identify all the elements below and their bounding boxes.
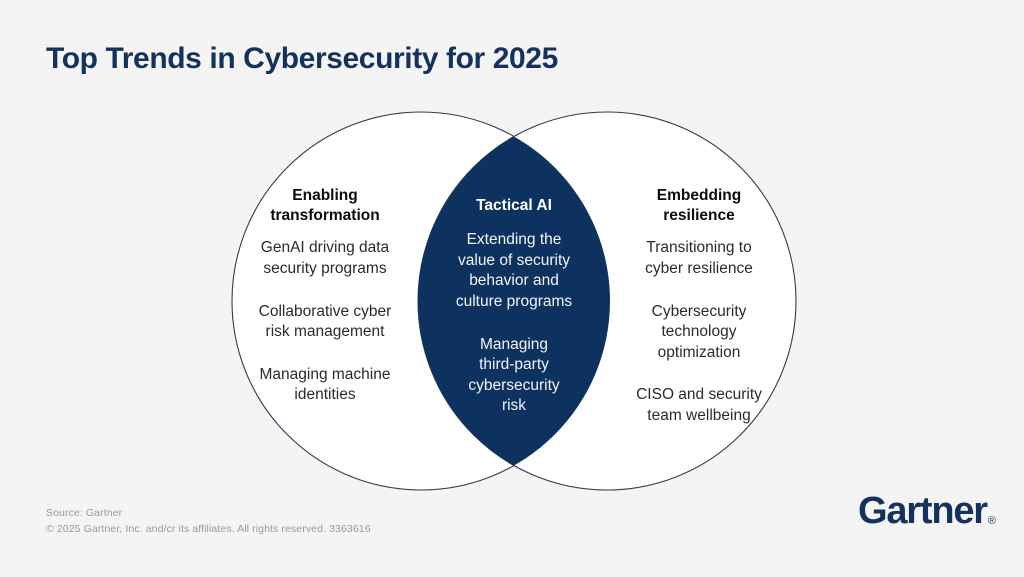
venn-right-item-1: Transitioning to cyber resilience — [618, 238, 780, 279]
venn-left-item-3: Managing machine identities — [244, 365, 406, 406]
gartner-logo: Gartner ® — [858, 492, 996, 530]
venn-group-embedding-resilience: Embedding resilience Transitioning to cy… — [618, 186, 780, 427]
venn-center-item-1: Extending the value of security behavior… — [430, 230, 598, 312]
venn-right-item-2: Cybersecurity technology optimization — [618, 302, 780, 364]
venn-right-item-3: CISO and security team wellbeing — [618, 385, 780, 426]
source-line: Source: Gartner — [46, 505, 371, 521]
venn-left-item-1: GenAI driving data security programs — [244, 238, 406, 279]
venn-center-heading: Tactical AI — [430, 196, 598, 216]
source-note: Source: Gartner © 2025 Gartner, Inc. and… — [46, 505, 371, 538]
venn-group-tactical-ai: Tactical AI Extending the value of secur… — [430, 196, 598, 439]
venn-left-item-2: Collaborative cyber risk management — [244, 302, 406, 343]
registered-trademark-icon: ® — [988, 516, 996, 527]
venn-center-item-2: Managing third-party cybersecurity risk — [430, 335, 598, 417]
venn-right-heading: Embedding resilience — [618, 186, 780, 226]
gartner-wordmark: Gartner — [858, 492, 987, 530]
copyright-line: © 2025 Gartner, Inc. and/cr its affiliat… — [46, 521, 371, 537]
venn-left-heading: Enabling transformation — [244, 186, 406, 226]
venn-group-enabling-transformation: Enabling transformation GenAI driving da… — [244, 186, 406, 406]
